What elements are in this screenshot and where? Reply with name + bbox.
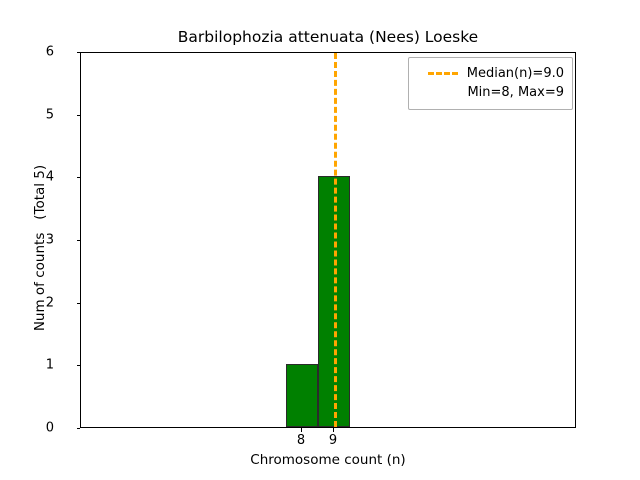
median-reference-line [334,53,337,427]
y-tick-mark-0 [77,428,81,429]
legend-entry-median: Median(n)=9.0 [417,64,564,83]
chart-figure: Barbilophozia attenuata (Nees) Loeske 0 … [0,0,640,480]
x-axis-label: Chromosome count (n) [80,452,576,468]
legend-entry-minmax: Min=8, Max=9 [417,83,564,102]
bar-category-8[interactable] [286,364,318,427]
chart-legend: Median(n)=9.0 Min=8, Max=9 [408,57,573,110]
y-axis-label: Num of counts (Total 5) [32,58,48,438]
legend-label-median: Median(n)=9.0 [467,66,564,81]
x-tick-mark-8 [301,428,302,432]
chart-title: Barbilophozia attenuata (Nees) Loeske [80,28,576,46]
dashed-line-icon [428,72,458,75]
x-tick-mark-9 [333,428,334,432]
legend-label-minmax: Min=8, Max=9 [467,85,564,100]
x-tick-label-9: 9 [313,433,353,448]
